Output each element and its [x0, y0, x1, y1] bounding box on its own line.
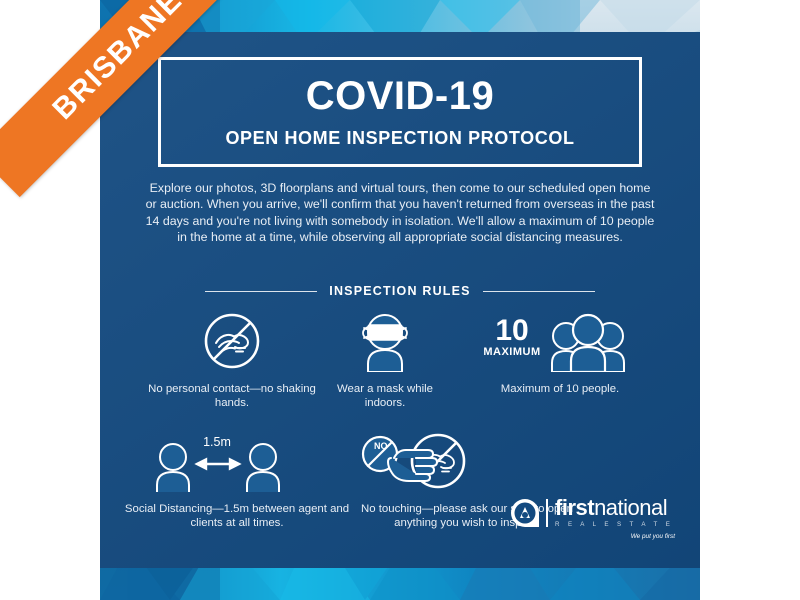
max-people-icon: 10 MAXIMUM — [470, 310, 650, 372]
first-national-mark-icon — [510, 498, 540, 528]
rule-caption: No personal contact—no shaking hands. — [144, 382, 320, 411]
divider-line-right — [483, 291, 595, 292]
logo-word-first: first — [555, 495, 594, 520]
rule-social-distancing: 1.5m Social Distancing—1.5m between agen… — [122, 430, 352, 531]
rule-caption: Wear a mask while indoors. — [320, 382, 450, 411]
rule-no-personal-contact: No personal contact—no shaking hands. — [144, 310, 320, 411]
logo-word-national: national — [594, 495, 667, 520]
logo-subtitle: R E A L E S T A T E — [555, 521, 673, 528]
no-handshake-icon — [201, 310, 263, 372]
face-mask-icon — [352, 310, 418, 372]
inspection-rules-divider: INSPECTION RULES — [205, 284, 595, 298]
inspection-rules-label: INSPECTION RULES — [329, 284, 470, 298]
rule-caption: Social Distancing—1.5m between agent and… — [122, 502, 352, 531]
page-title: COVID-19 — [306, 76, 495, 116]
rules-row-first: No personal contact—no shaking hands. — [100, 310, 700, 411]
infographic-canvas: COVID-19 OPEN HOME INSPECTION PROTOCOL E… — [0, 0, 800, 600]
first-national-logo: firstnational R E A L E S T A T E We put… — [510, 497, 675, 540]
rule-maximum-people: 10 MAXIMUM Maximum of 10 people. — [450, 310, 670, 411]
pointing-hand-no-icon: NO — [358, 430, 468, 497]
rule-wear-a-mask: Wear a mask while indoors. — [320, 310, 450, 411]
rule-caption: Maximum of 10 people. — [501, 382, 619, 396]
distance-label: 1.5m — [203, 435, 231, 449]
header-box: COVID-19 OPEN HOME INSPECTION PROTOCOL — [158, 57, 642, 167]
logo-wordmark: firstnational — [555, 497, 673, 519]
logo-divider — [546, 499, 548, 527]
logo-tagline: We put you first — [510, 533, 675, 540]
intro-paragraph: Explore our photos, 3D floorplans and vi… — [145, 180, 655, 246]
max-count-value: 10 — [495, 314, 528, 347]
social-distancing-icon: 1.5m — [147, 430, 327, 492]
divider-line-left — [205, 291, 317, 292]
max-count-label: MAXIMUM — [483, 346, 540, 358]
no-badge-label: NO — [374, 441, 388, 451]
page-subtitle: OPEN HOME INSPECTION PROTOCOL — [225, 128, 574, 149]
poster-content: COVID-19 OPEN HOME INSPECTION PROTOCOL E… — [100, 32, 700, 568]
